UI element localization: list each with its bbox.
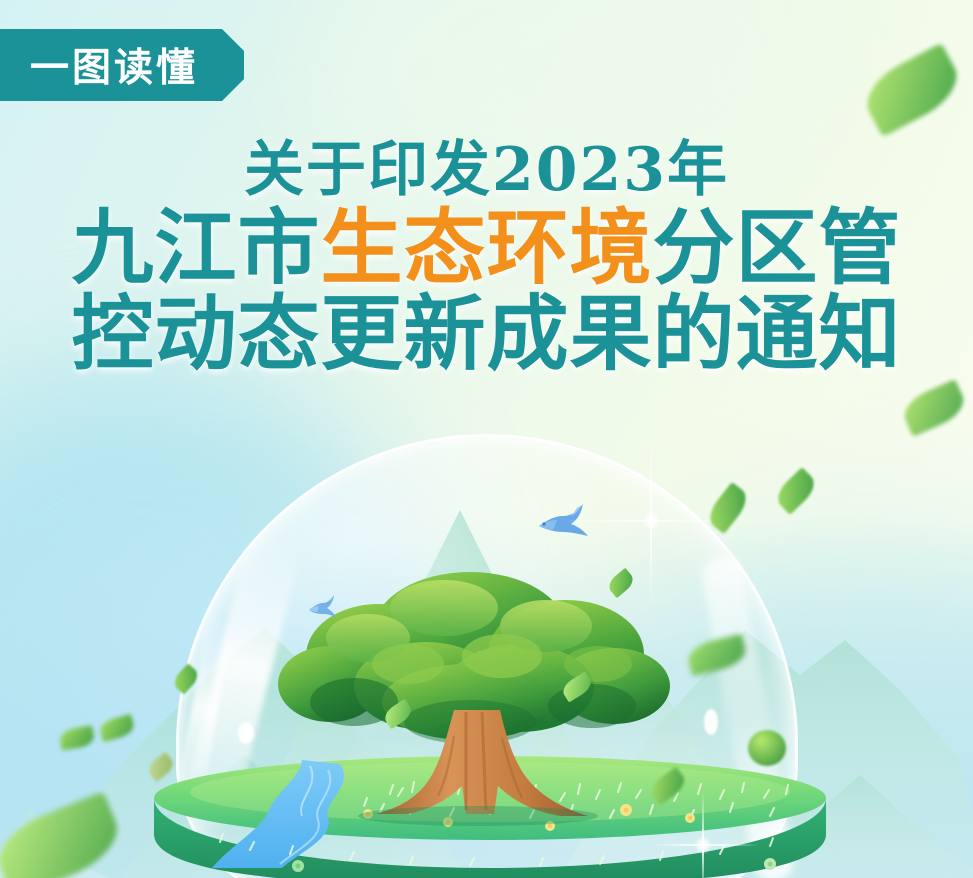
title-line-2-highlight: 生态环境 [320,200,652,296]
title-line-3: 控动态更新成果的通知 [0,293,973,377]
leaf-top-right-small [898,379,969,437]
title-line-1: 关于印发2023年 [0,140,973,201]
leaf-top-right-large [856,43,967,138]
title-line-2-prefix: 九江市 [71,200,320,296]
page-title: 关于印发2023年 九江市生态环境分区管 控动态更新成果的通知 [0,140,973,376]
badge-label: 一图读懂 [30,37,198,93]
sky-lower-panel [0,520,973,878]
read-at-a-glance-badge[interactable]: 一图读懂 [0,29,244,101]
title-line-2: 九江市生态环境分区管 [0,207,973,291]
leaf-right-mid [772,467,820,515]
background-wash-top [300,0,820,220]
title-line-2-suffix: 分区管 [653,200,902,296]
infographic-poster: 一图读懂 关于印发2023年 九江市生态环境分区管 控动态更新成果的通知 [0,0,973,878]
